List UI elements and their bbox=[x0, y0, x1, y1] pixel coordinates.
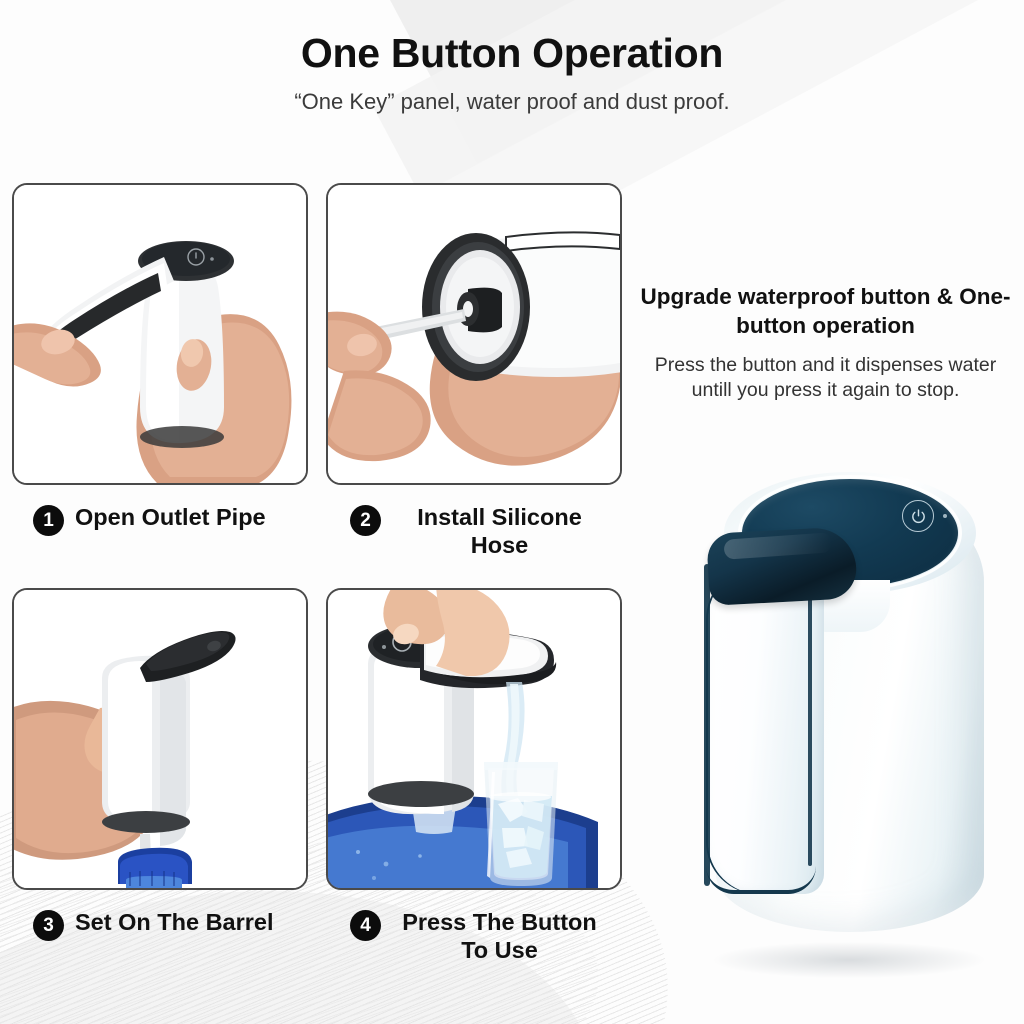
step-image-panel-2 bbox=[326, 183, 622, 485]
step-label-1: Open Outlet Pipe bbox=[75, 503, 266, 531]
power-icon-glyph bbox=[910, 508, 927, 525]
page-title: One Button Operation bbox=[0, 33, 1024, 74]
step-badge-3: 3 bbox=[33, 910, 64, 941]
step-image-panel-3 bbox=[12, 588, 308, 890]
step-label-3: Set On The Barrel bbox=[75, 908, 274, 936]
page-subtitle: “One Key” panel, water proof and dust pr… bbox=[0, 91, 1024, 113]
header: One Button Operation “One Key” panel, wa… bbox=[0, 0, 1024, 113]
step-label-2: Install Silicone Hose bbox=[392, 503, 607, 559]
led-indicator bbox=[943, 514, 947, 518]
hero-arm-bottom-edge bbox=[706, 866, 816, 894]
hero-drop-shadow bbox=[714, 942, 984, 978]
feature-heading: Upgrade waterproof button & One-button o… bbox=[638, 283, 1013, 341]
step-image-panel-4 bbox=[326, 588, 622, 890]
power-icon[interactable] bbox=[902, 500, 934, 532]
step-badge-4: 4 bbox=[350, 910, 381, 941]
step-caption-3: 3 Set On The Barrel bbox=[33, 908, 308, 941]
step-caption-2: 2 Install Silicone Hose bbox=[350, 503, 618, 559]
step-caption-4: 4 Press The Button To Use bbox=[350, 908, 618, 964]
step-1-illustration bbox=[14, 185, 306, 483]
feature-callout: Upgrade waterproof button & One-button o… bbox=[638, 283, 1013, 403]
step-3-illustration bbox=[14, 590, 306, 888]
step-caption-1: 1 Open Outlet Pipe bbox=[33, 503, 308, 536]
hero-outlet-arm bbox=[708, 564, 824, 894]
step-label-4: Press The Button To Use bbox=[392, 908, 607, 964]
hero-arm-left-edge bbox=[704, 564, 710, 886]
hero-product-image bbox=[690, 452, 1012, 972]
step-2-illustration bbox=[328, 185, 620, 483]
step-4-illustration bbox=[328, 590, 620, 888]
feature-body: Press the button and it dispenses water … bbox=[638, 353, 1013, 404]
step-badge-1: 1 bbox=[33, 505, 64, 536]
hero-arm-seam bbox=[808, 570, 812, 866]
step-image-panel-1 bbox=[12, 183, 308, 485]
step-badge-2: 2 bbox=[350, 505, 381, 536]
